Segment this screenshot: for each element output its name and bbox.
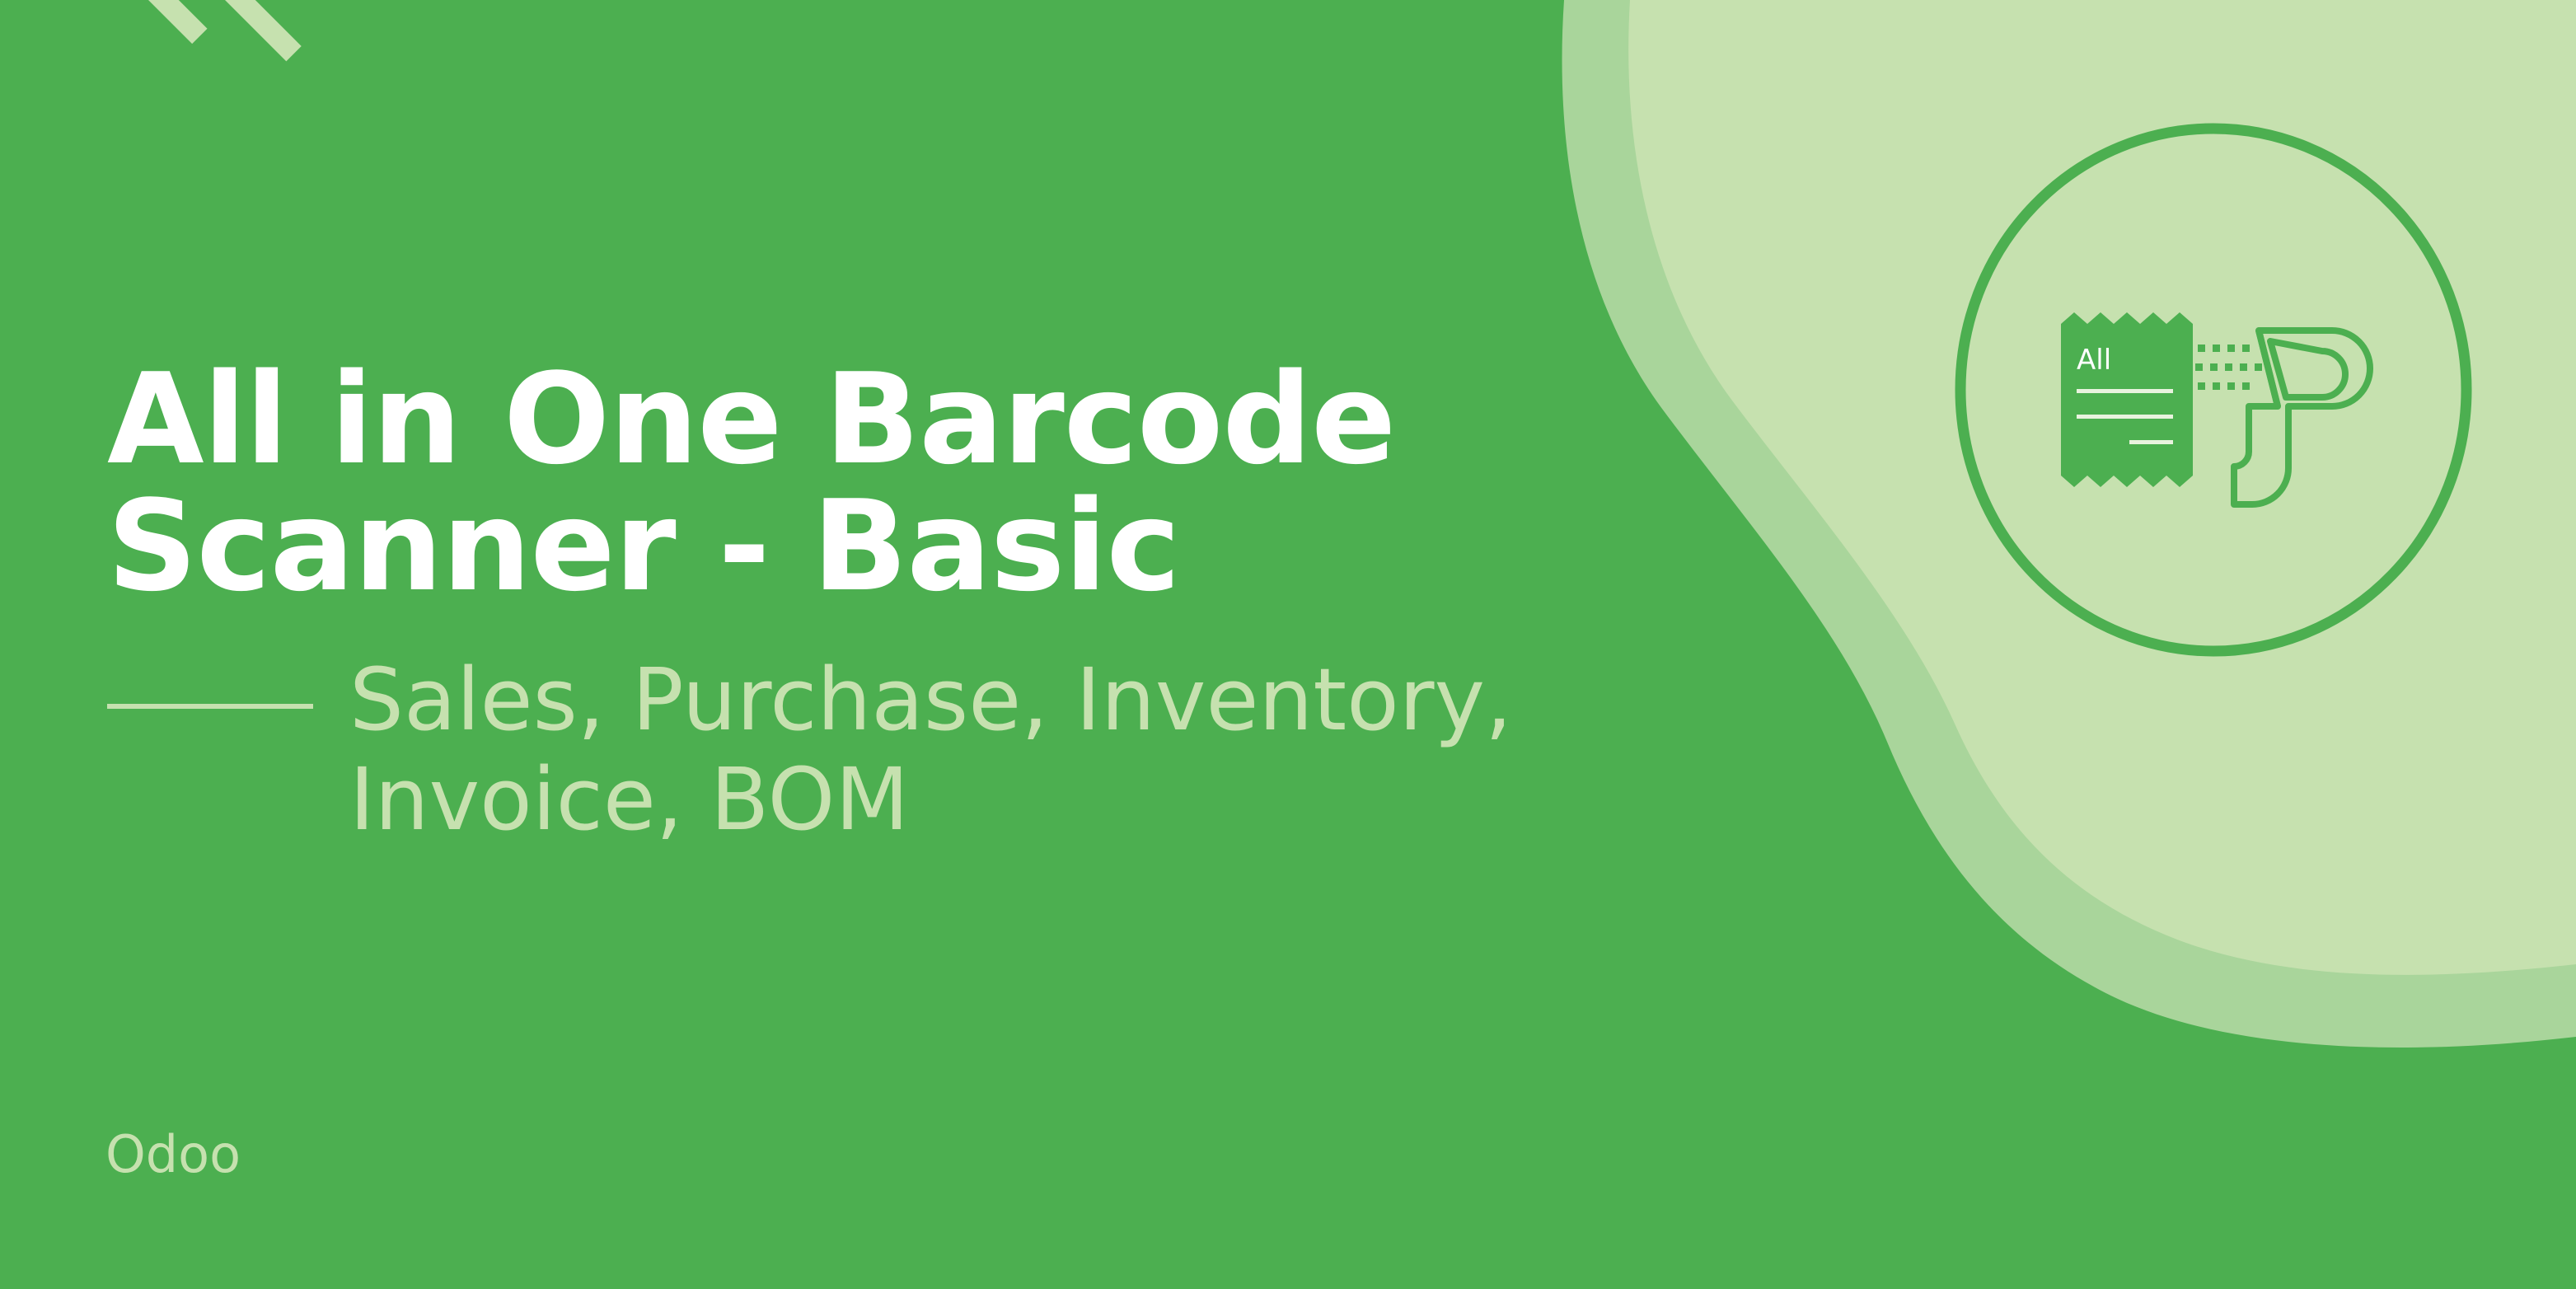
receipt-line-2 [2077, 415, 2173, 419]
receipt-line-1 [2077, 389, 2173, 393]
scanner-gun-icon [2234, 330, 2370, 504]
headline-block: All in One Barcode Scanner - Basic Sales… [107, 356, 1590, 849]
scan-dots-icon [2195, 345, 2262, 390]
barcode-scanner-icon: All [1953, 122, 2474, 658]
subtitle-row: Sales, Purchase, Inventory, Invoice, BOM [107, 650, 1590, 849]
subtitle-dash-rule [107, 704, 313, 709]
receipt-icon [2061, 312, 2193, 487]
promo-banner: All in One Barcode Scanner - Basic Sales… [0, 0, 2576, 1289]
page-title: All in One Barcode Scanner - Basic [107, 356, 1590, 609]
brand-label: Odoo [105, 1129, 241, 1180]
receipt-label-text: All [2077, 344, 2111, 377]
page-subtitle: Sales, Purchase, Inventory, Invoice, BOM [349, 650, 1512, 849]
receipt-line-3 [2129, 440, 2173, 444]
